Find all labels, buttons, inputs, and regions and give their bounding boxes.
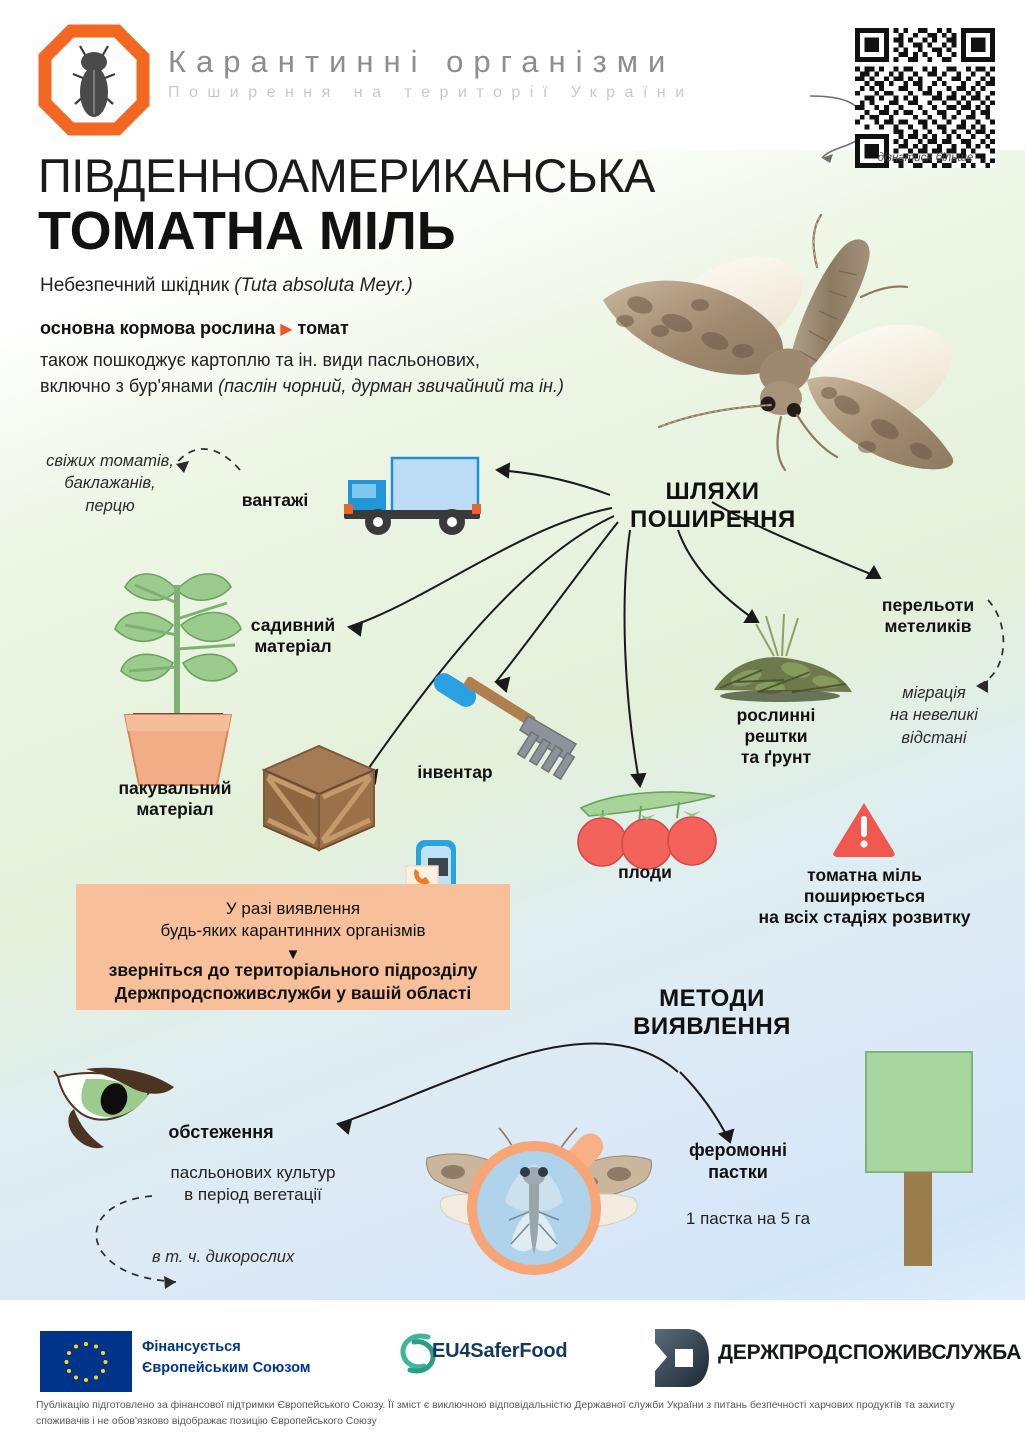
species-name: (Tuta absoluta Meyr.): [234, 275, 412, 296]
methods-label-survey: обстеження: [128, 1122, 314, 1144]
cargo-note-line3: перцю: [85, 497, 134, 515]
callout-action: зверніться до територіального підрозділу…: [76, 959, 510, 1005]
spread-label-inventory: інвентар: [400, 762, 510, 783]
eu-flag-icon: [40, 1331, 132, 1392]
migration-note-line2: на невеликі: [890, 706, 978, 724]
cargo-note-line2: баклажанів,: [64, 474, 155, 492]
pheromone-trap-icon: [860, 1048, 990, 1278]
subtitle-plain: Небезпечний шкідник: [40, 275, 234, 296]
callout-intro: У разі виявлення будь-яких карантинних о…: [76, 898, 510, 943]
host-plant-label: основна кормова рослина: [40, 318, 275, 338]
spread-label-plant-debris: рослинні рештки та ґрунт: [700, 705, 852, 768]
warning-triangle-icon: [832, 800, 896, 858]
host-note-line2: включно з бур'янами: [40, 376, 218, 396]
page-title-line1: ПІВДЕННОАМЕРИКАНСЬКА: [38, 148, 655, 203]
eu-funding-label: Фінансується Європейським Союзом: [142, 1337, 311, 1379]
brand-title: Карантинні організми: [168, 44, 694, 80]
callout-line1: У разі виявлення: [226, 899, 360, 918]
brand-subtitle: Поширення на території України: [168, 84, 694, 102]
spread-label-moth-flight: перельоти метеликів: [848, 595, 1008, 637]
eu-funding-line1: Фінансується: [142, 1339, 241, 1355]
brand-block: Карантинні організми Поширення на терито…: [168, 44, 694, 102]
spread-label-fruits: плоди: [590, 862, 700, 883]
migration-note-line3: відстані: [901, 729, 966, 747]
spread-label-packaging-material: пакувальний матеріал: [100, 778, 250, 820]
poster-root: Карантинні організми Поширення на терито…: [0, 0, 1025, 1449]
warning-line1: томатна міль: [807, 865, 922, 885]
spread-label-planting-material: садивний матеріал: [228, 615, 358, 657]
warning-text: томатна міль поширюється на всіх стадіях…: [732, 865, 997, 928]
migration-note-line1: міграція: [902, 684, 965, 702]
qr-caption: дізнатися більше: [838, 152, 1013, 164]
survey-note-line2: в період вегетації: [184, 1185, 322, 1204]
survey-note-line1: пасльонових культур: [171, 1163, 336, 1182]
callout-line3: зверніться до територіального підрозділу: [109, 960, 478, 980]
host-note-weeds: (паслін чорний, дурман звичайний та ін.): [218, 376, 564, 396]
host-plant-value: томат: [298, 318, 349, 338]
trap-density: 1 пастка на 5 га: [648, 1208, 848, 1230]
magnifier-moth-icon: [405, 1128, 665, 1278]
cargo-note-line1: свіжих томатів,: [46, 452, 174, 470]
survey-subnote: в т. ч. дикорослих: [152, 1246, 382, 1268]
trap-label-line1: феромонні: [689, 1140, 787, 1160]
truck-icon: [340, 452, 485, 542]
callout-line4: Держпродспоживслужби у вашій області: [115, 983, 472, 1003]
eye-icon: [52, 1065, 182, 1160]
derzhprodspozhyvsluzhba-label: ДЕРЖПРОДСПОЖИВСЛУЖБА: [718, 1341, 1021, 1365]
tomatoes-icon: [573, 786, 721, 868]
callout-line2: будь-яких карантинних організмів: [160, 921, 425, 940]
methods-heading-line1: МЕТОДИ: [659, 985, 765, 1012]
warning-line2: поширюється: [804, 886, 925, 906]
potted-plant-icon: [95, 545, 260, 795]
page-title-line2: ТОМАТНА МІЛЬ: [38, 200, 456, 262]
spread-label-cargo: вантажі: [215, 490, 335, 511]
host-plant-note: також пошкоджує картоплю та ін. види пас…: [40, 348, 564, 399]
host-plant-line: основна кормова рослина ▶ томат: [40, 318, 349, 339]
migration-note: міграція на невеликі відстані: [855, 682, 1013, 749]
footer-disclaimer: Публікацію підготовлено за фінансової пі…: [36, 1398, 996, 1430]
methods-label-traps: феромонні пастки: [648, 1140, 828, 1183]
qr-code-icon[interactable]: [855, 28, 995, 168]
eu-funding-line2: Європейським Союзом: [142, 1360, 311, 1376]
warning-line3: на всіх стадіях розвитку: [759, 907, 971, 927]
cargo-note: свіжих томатів, баклажанів, перцю: [20, 450, 200, 517]
plant-debris-icon: [700, 608, 860, 704]
eu4saferfood-label: EU4SaferFood: [432, 1340, 567, 1363]
report-callout-box: У разі виявлення будь-яких карантинних о…: [76, 884, 510, 1010]
arrow-down-icon: ▼: [76, 950, 510, 959]
survey-note: пасльонових культур в період вегетації: [128, 1162, 378, 1206]
trap-label-line2: пастки: [708, 1162, 768, 1182]
subtitle: Небезпечний шкідник (Tuta absoluta Meyr.…: [40, 275, 413, 297]
beetle-octagon-icon: [40, 26, 148, 134]
derzhprodspozhyvsluzhba-icon: [653, 1327, 709, 1389]
host-note-line1: також пошкоджує картоплю та ін. види пас…: [40, 350, 480, 370]
arrow-right-icon: ▶: [280, 321, 292, 338]
wooden-crate-icon: [258, 742, 380, 854]
